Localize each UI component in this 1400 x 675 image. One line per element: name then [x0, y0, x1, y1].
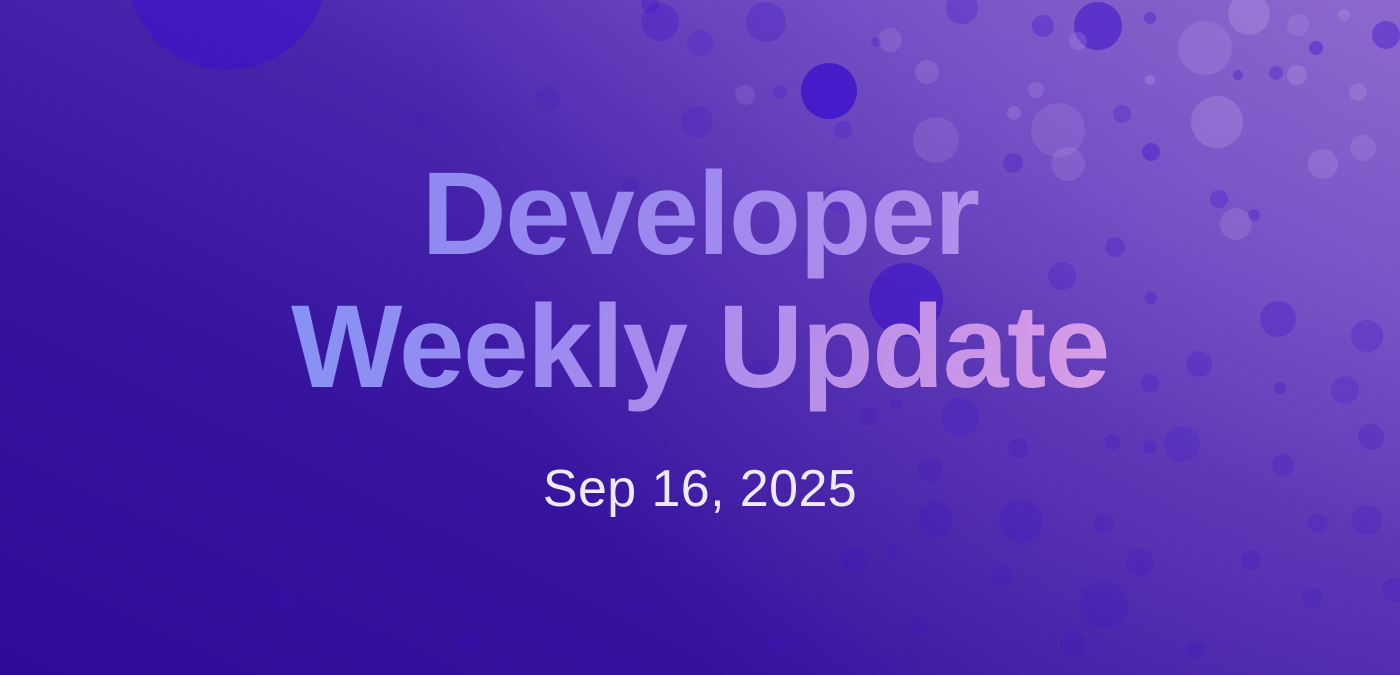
banner-content: Developer Weekly Update Sep 16, 2025 — [0, 0, 1400, 675]
title-line-developer: Developer — [291, 148, 1109, 280]
banner-date: Sep 16, 2025 — [543, 459, 857, 519]
weekly-update-banner: Developer Weekly Update Sep 16, 2025 — [0, 0, 1400, 675]
title-line-weekly-update: Weekly Update — [291, 281, 1109, 413]
banner-title-block: Developer Weekly Update — [291, 148, 1109, 412]
